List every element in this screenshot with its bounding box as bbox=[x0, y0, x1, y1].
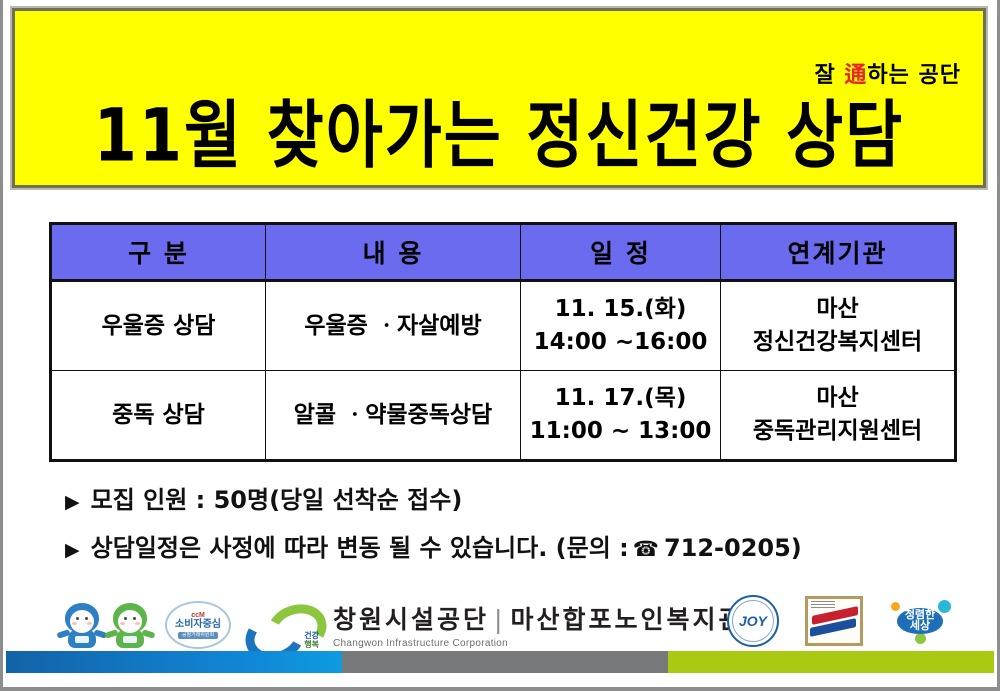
ccm-certification-badge-icon: ccM 소비자중심 공정거래위원회 bbox=[165, 601, 231, 649]
column-header-category: 구 분 bbox=[51, 224, 266, 281]
wordmark-divider: | bbox=[494, 605, 505, 634]
corporation-name-en: Changwon Infrastructure Corporation bbox=[333, 638, 744, 649]
notes-list: ▶ 모집 인원 : 50명(당일 선착순 접수) ▶ 상담일정은 사정에 따라 … bbox=[65, 480, 965, 576]
note-capacity: ▶ 모집 인원 : 50명(당일 선착순 접수) bbox=[65, 480, 965, 515]
poster-page: 잘 通하는 공단 11월 찾아가는 정신건강 상담 구 분 내 용 일 정 연계… bbox=[0, 0, 1000, 691]
corporation-name-kr: 창원시설공단 bbox=[333, 605, 489, 634]
ccm-badge-main: 소비자중심 bbox=[175, 620, 221, 630]
note-disclaimer-text: 상담일정은 사정에 따라 변동 될 수 있습니다. (문의 : bbox=[91, 528, 629, 563]
schedule-date: 11. 15.(화) bbox=[523, 293, 718, 326]
footer: ccM 소비자중심 공정거래위원회 건강 행복 창원시설공단|마산합포노인복지관… bbox=[3, 579, 997, 651]
swoosh-logo-icon: 건강 행복 bbox=[245, 603, 317, 649]
triangle-bullet-icon: ▶ bbox=[65, 493, 80, 512]
certification-logo-group: JOY 청렴한세상 bbox=[727, 595, 951, 647]
corporation-branch-kr: 마산합포노인복지관 bbox=[510, 605, 744, 634]
schedule-table-wrapper: 구 분 내 용 일 정 연계기관 우울증 상담 우울증 ㆍ자살예방 11. 15… bbox=[49, 222, 954, 462]
triangle-bullet-icon: ▶ bbox=[65, 541, 80, 560]
cell-category: 우울증 상담 bbox=[51, 281, 266, 371]
award-certificate-icon bbox=[805, 596, 863, 646]
cell-content: 알콜 ㆍ약물중독상담 bbox=[266, 371, 521, 461]
contact-phone-number: 712-0205) bbox=[664, 534, 802, 562]
footer-color-bar bbox=[6, 651, 994, 673]
organization-region: 마산 bbox=[723, 382, 952, 415]
cell-content: 우울증 ㆍ자살예방 bbox=[266, 281, 521, 371]
schedule-table: 구 분 내 용 일 정 연계기관 우울증 상담 우울증 ㆍ자살예방 11. 15… bbox=[49, 222, 957, 462]
column-header-content: 내 용 bbox=[266, 224, 521, 281]
cell-schedule: 11. 15.(화) 14:00 ~16:00 bbox=[521, 281, 721, 371]
column-header-schedule: 일 정 bbox=[521, 224, 721, 281]
schedule-time: 11:00 ~ 13:00 bbox=[523, 415, 718, 448]
header-banner: 잘 通하는 공단 11월 찾아가는 정신건강 상담 bbox=[12, 8, 986, 188]
color-bar-segment-green bbox=[668, 651, 994, 673]
note-capacity-text: 모집 인원 : 50명(당일 선착순 접수) bbox=[91, 480, 463, 515]
mascot-blue-icon bbox=[61, 603, 103, 649]
corporation-name-kr-row: 창원시설공단|마산합포노인복지관 bbox=[333, 600, 744, 636]
swoosh-label-line1: 건강 bbox=[304, 631, 319, 640]
schedule-time: 14:00 ~16:00 bbox=[523, 326, 718, 359]
human-rights-seal-icon: JOY bbox=[727, 595, 779, 647]
cell-organization: 마산 정신건강복지센터 bbox=[721, 281, 956, 371]
slogan-accent-character: 通 bbox=[844, 63, 867, 88]
schedule-date: 11. 17.(목) bbox=[523, 382, 718, 415]
telephone-icon: ☎ bbox=[633, 537, 659, 561]
slogan-suffix: 하는 공단 bbox=[867, 63, 961, 88]
slogan-prefix: 잘 bbox=[814, 63, 844, 88]
organization-name: 중독관리지원센터 bbox=[723, 415, 952, 448]
swoosh-label-line2: 행복 bbox=[304, 641, 319, 649]
ccm-badge-top: ccM bbox=[191, 612, 205, 619]
human-rights-seal-label: JOY bbox=[739, 613, 767, 629]
column-header-organization: 연계기관 bbox=[721, 224, 956, 281]
table-row: 중독 상담 알콜 ㆍ약물중독상담 11. 17.(목) 11:00 ~ 13:0… bbox=[51, 371, 956, 461]
corporation-wordmark: 창원시설공단|마산합포노인복지관 Changwon Infrastructure… bbox=[333, 600, 744, 649]
note-disclaimer: ▶ 상담일정은 사정에 따라 변동 될 수 있습니다. (문의 : ☎ 712-… bbox=[65, 528, 965, 563]
swoosh-label: 건강 행복 bbox=[304, 632, 319, 649]
organization-name: 정신건강복지센터 bbox=[723, 326, 952, 359]
cell-organization: 마산 중독관리지원센터 bbox=[721, 371, 956, 461]
mascot-group bbox=[61, 603, 151, 649]
clean-world-label: 청렴한세상 bbox=[897, 608, 943, 634]
table-header-row: 구 분 내 용 일 정 연계기관 bbox=[51, 224, 956, 281]
ccm-badge-sub: 공정거래위원회 bbox=[178, 632, 218, 639]
cell-schedule: 11. 17.(목) 11:00 ~ 13:00 bbox=[521, 371, 721, 461]
slogan: 잘 通하는 공단 bbox=[814, 57, 961, 89]
cell-category: 중독 상담 bbox=[51, 371, 266, 461]
organization-region: 마산 bbox=[723, 293, 952, 326]
clean-world-logo-icon: 청렴한세상 bbox=[889, 598, 951, 644]
table-row: 우울증 상담 우울증 ㆍ자살예방 11. 15.(화) 14:00 ~16:00… bbox=[51, 281, 956, 371]
mascot-green-icon bbox=[109, 603, 151, 649]
color-bar-segment-blue bbox=[6, 651, 342, 673]
color-bar-segment-gray bbox=[342, 651, 668, 673]
footer-logo-row: ccM 소비자중심 공정거래위원회 건강 행복 창원시설공단|마산합포노인복지관… bbox=[61, 600, 744, 649]
page-title: 11월 찾아가는 정신건강 상담 bbox=[15, 99, 983, 172]
